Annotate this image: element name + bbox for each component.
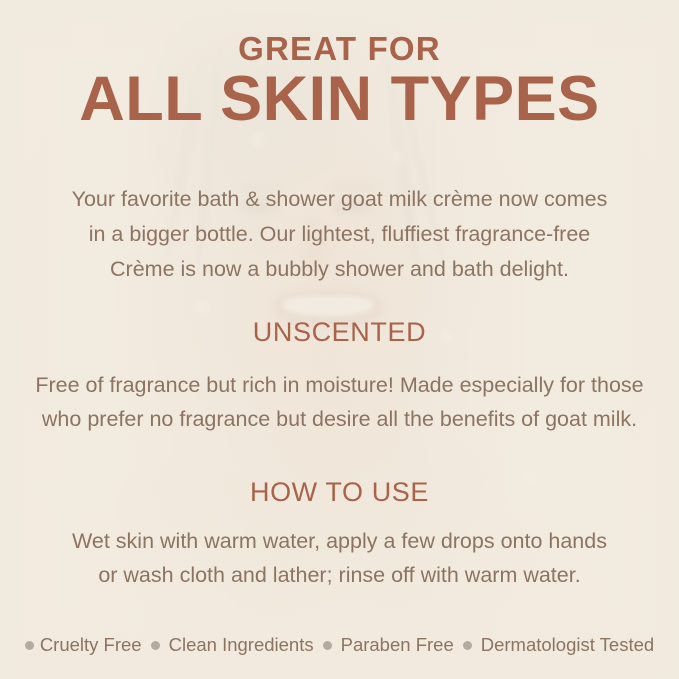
- bullet-dot-icon: [151, 641, 160, 650]
- bullet-dot-icon: [323, 641, 332, 650]
- poster-content: GREAT FOR ALL SKIN TYPES Your favorite b…: [0, 0, 679, 679]
- badge-cruelty-free: Cruelty Free: [40, 634, 142, 656]
- bullet-dot-icon: [25, 641, 34, 650]
- claims-badge-row: Cruelty Free Clean Ingredients Paraben F…: [0, 634, 679, 656]
- section-line: who prefer no fragrance but desire all t…: [0, 402, 679, 436]
- intro-paragraph: Your favorite bath & shower goat milk cr…: [0, 182, 679, 287]
- intro-line: in a bigger bottle. Our lightest, fluffi…: [0, 217, 679, 252]
- section-line: Wet skin with warm water, apply a few dr…: [0, 524, 679, 558]
- intro-line: Crème is now a bubbly shower and bath de…: [0, 252, 679, 287]
- bullet-dot-icon: [463, 641, 472, 650]
- intro-line: Your favorite bath & shower goat milk cr…: [0, 182, 679, 217]
- badge-paraben-free: Paraben Free: [341, 634, 454, 656]
- page-title: ALL SKIN TYPES: [0, 66, 679, 132]
- section-title-how-to-use: HOW TO USE: [0, 477, 679, 508]
- section-body-unscented: Free of fragrance but rich in moisture! …: [0, 368, 679, 436]
- section-title-unscented: UNSCENTED: [0, 317, 679, 348]
- badge-dermatologist-tested: Dermatologist Tested: [481, 634, 654, 656]
- eyebrow-heading: GREAT FOR: [0, 30, 679, 68]
- section-line: or wash cloth and lather; rinse off with…: [0, 558, 679, 592]
- badge-clean-ingredients: Clean Ingredients: [169, 634, 314, 656]
- section-line: Free of fragrance but rich in moisture! …: [0, 368, 679, 402]
- section-body-how-to-use: Wet skin with warm water, apply a few dr…: [0, 524, 679, 592]
- product-marketing-poster: GREAT FOR ALL SKIN TYPES Your favorite b…: [0, 0, 679, 679]
